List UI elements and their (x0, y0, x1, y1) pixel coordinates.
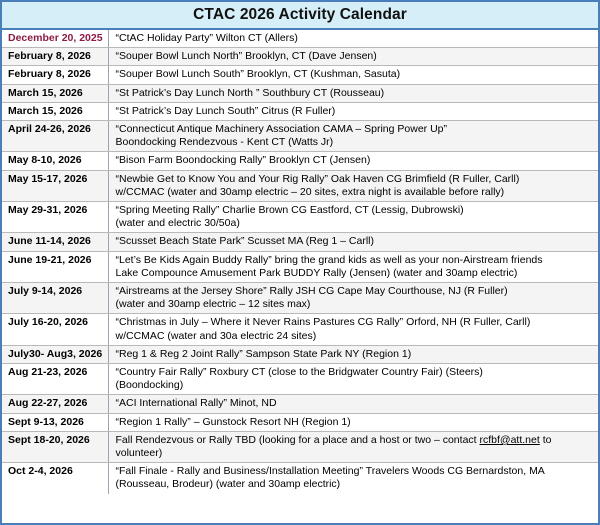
event-description-cell: “Newbie Get to Know You and Your Rig Ral… (108, 170, 598, 201)
event-description-line: “Christmas in July – Where it Never Rain… (116, 316, 594, 329)
event-description-cell: Fall Rendezvous or Rally TBD (looking fo… (108, 431, 598, 462)
event-description-cell: “St Patrick’s Day Lunch North ” Southbur… (108, 84, 598, 102)
event-date-cell: December 20, 2025 (2, 30, 108, 48)
event-description-line: “CtAC Holiday Party” Wilton CT (Allers) (116, 32, 594, 45)
event-description-line: “St Patrick’s Day Lunch North ” Southbur… (116, 87, 594, 100)
event-description-line: Lake Compounce Amusement Park BUDDY Rall… (116, 267, 594, 280)
event-date-cell: May 15-17, 2026 (2, 170, 108, 201)
table-row: Sept 9-13, 2026“Region 1 Rally” – Gunsto… (2, 413, 598, 431)
event-date-cell: March 15, 2026 (2, 102, 108, 120)
table-row: December 20, 2025“CtAC Holiday Party” Wi… (2, 30, 598, 48)
event-date-cell: July 9-14, 2026 (2, 283, 108, 314)
event-description-line: “ACI International Rally” Minot, ND (116, 397, 594, 410)
event-description-cell: “Let’s Be Kids Again Buddy Rally” bring … (108, 251, 598, 282)
event-description-line: “Country Fair Rally” Roxbury CT (close t… (116, 366, 594, 379)
event-description-line: “Souper Bowl Lunch South” Brooklyn, CT (… (116, 68, 594, 81)
table-row: May 8-10, 2026“Bison Farm Boondocking Ra… (2, 152, 598, 170)
event-description-cell: “Fall Finale - Rally and Business/Instal… (108, 463, 598, 494)
event-description-cell: “Souper Bowl Lunch South” Brooklyn, CT (… (108, 66, 598, 84)
event-description-cell: “ACI International Rally” Minot, ND (108, 395, 598, 413)
event-date-cell: Aug 21-23, 2026 (2, 364, 108, 395)
table-row: June 11-14, 2026“Scusset Beach State Par… (2, 233, 598, 251)
email-link[interactable]: rcfbf@att.net (480, 434, 540, 446)
page-title: CTAC 2026 Activity Calendar (2, 2, 598, 30)
event-description-cell: “CtAC Holiday Party” Wilton CT (Allers) (108, 30, 598, 48)
event-description-cell: “Region 1 Rally” – Gunstock Resort NH (R… (108, 413, 598, 431)
table-row: July30- Aug3, 2026“Reg 1 & Reg 2 Joint R… (2, 345, 598, 363)
event-description-cell: “Airstreams at the Jersey Shore” Rally J… (108, 283, 598, 314)
event-description-line: “Bison Farm Boondocking Rally” Brooklyn … (116, 154, 594, 167)
event-description-line: “St Patrick’s Day Lunch South” Citrus (R… (116, 105, 594, 118)
event-description-line: “Spring Meeting Rally” Charlie Brown CG … (116, 204, 594, 217)
table-row: April 24-26, 2026“Connecticut Antique Ma… (2, 121, 598, 152)
table-row: July 9-14, 2026“Airstreams at the Jersey… (2, 283, 598, 314)
event-description-line: “Connecticut Antique Machinery Associati… (116, 123, 594, 136)
event-description-cell: “Christmas in July – Where it Never Rain… (108, 314, 598, 345)
event-date-cell: March 15, 2026 (2, 84, 108, 102)
activity-calendar-table: December 20, 2025“CtAC Holiday Party” Wi… (2, 30, 598, 494)
event-date-cell: June 11-14, 2026 (2, 233, 108, 251)
event-description-line: w/CCMAC (water and 30a electric 24 sites… (116, 330, 594, 343)
event-date-cell: July30- Aug3, 2026 (2, 345, 108, 363)
event-description-line: (water and 30amp electric – 12 sites max… (116, 298, 594, 311)
event-description-cell: “Scusset Beach State Park” Scusset MA (R… (108, 233, 598, 251)
activity-calendar-body: December 20, 2025“CtAC Holiday Party” Wi… (2, 30, 598, 494)
event-description-line: “Souper Bowl Lunch North” Brooklyn, CT (… (116, 50, 594, 63)
event-date-cell: June 19-21, 2026 (2, 251, 108, 282)
event-description-line: w/CCMAC (water and 30amp electric – 20 s… (116, 186, 594, 199)
table-row: June 19-21, 2026“Let’s Be Kids Again Bud… (2, 251, 598, 282)
table-row: February 8, 2026“Souper Bowl Lunch South… (2, 66, 598, 84)
event-description-line: (water and electric 30/50a) (116, 217, 594, 230)
event-description-cell: “St Patrick’s Day Lunch South” Citrus (R… (108, 102, 598, 120)
event-description-line: (Rousseau, Brodeur) (water and 30amp ele… (116, 478, 594, 491)
table-row: February 8, 2026“Souper Bowl Lunch North… (2, 48, 598, 66)
event-description-cell: “Reg 1 & Reg 2 Joint Rally” Sampson Stat… (108, 345, 598, 363)
event-description-line: Boondocking Rendezvous - Kent CT (Watts … (116, 136, 594, 149)
event-description-line: “Newbie Get to Know You and Your Rig Ral… (116, 173, 594, 186)
event-date-cell: April 24-26, 2026 (2, 121, 108, 152)
event-description-cell: “Connecticut Antique Machinery Associati… (108, 121, 598, 152)
table-row: March 15, 2026“St Patrick’s Day Lunch So… (2, 102, 598, 120)
event-date-cell: Oct 2-4, 2026 (2, 463, 108, 494)
table-row: July 16-20, 2026“Christmas in July – Whe… (2, 314, 598, 345)
table-row: Aug 22-27, 2026“ACI International Rally”… (2, 395, 598, 413)
event-date-cell: Sept 9-13, 2026 (2, 413, 108, 431)
table-row: May 15-17, 2026“Newbie Get to Know You a… (2, 170, 598, 201)
event-description-line: “Airstreams at the Jersey Shore” Rally J… (116, 285, 594, 298)
event-description-cell: “Souper Bowl Lunch North” Brooklyn, CT (… (108, 48, 598, 66)
table-row: March 15, 2026“St Patrick’s Day Lunch No… (2, 84, 598, 102)
event-date-cell: May 8-10, 2026 (2, 152, 108, 170)
activity-calendar-document: CTAC 2026 Activity Calendar December 20,… (0, 0, 600, 525)
table-row: May 29-31, 2026“Spring Meeting Rally” Ch… (2, 202, 598, 233)
event-description-line: “Fall Finale - Rally and Business/Instal… (116, 465, 594, 478)
table-row: Aug 21-23, 2026“Country Fair Rally” Roxb… (2, 364, 598, 395)
event-description-line: “Scusset Beach State Park” Scusset MA (R… (116, 235, 594, 248)
event-description-cell: “Country Fair Rally” Roxbury CT (close t… (108, 364, 598, 395)
table-row: Sept 18-20, 2026Fall Rendezvous or Rally… (2, 431, 598, 462)
event-date-cell: February 8, 2026 (2, 48, 108, 66)
event-description-line: (Boondocking) (116, 379, 594, 392)
event-date-cell: Aug 22-27, 2026 (2, 395, 108, 413)
event-date-cell: May 29-31, 2026 (2, 202, 108, 233)
event-description-line: volunteer) (116, 447, 594, 460)
event-description-cell: “Spring Meeting Rally” Charlie Brown CG … (108, 202, 598, 233)
event-date-cell: February 8, 2026 (2, 66, 108, 84)
event-description-cell: “Bison Farm Boondocking Rally” Brooklyn … (108, 152, 598, 170)
event-date-cell: Sept 18-20, 2026 (2, 431, 108, 462)
event-date-cell: July 16-20, 2026 (2, 314, 108, 345)
table-row: Oct 2-4, 2026“Fall Finale - Rally and Bu… (2, 463, 598, 494)
event-description-line: “Region 1 Rally” – Gunstock Resort NH (R… (116, 416, 594, 429)
event-description-line: “Let’s Be Kids Again Buddy Rally” bring … (116, 254, 594, 267)
event-description-line: Fall Rendezvous or Rally TBD (looking fo… (116, 434, 594, 447)
event-description-line: “Reg 1 & Reg 2 Joint Rally” Sampson Stat… (116, 348, 594, 361)
